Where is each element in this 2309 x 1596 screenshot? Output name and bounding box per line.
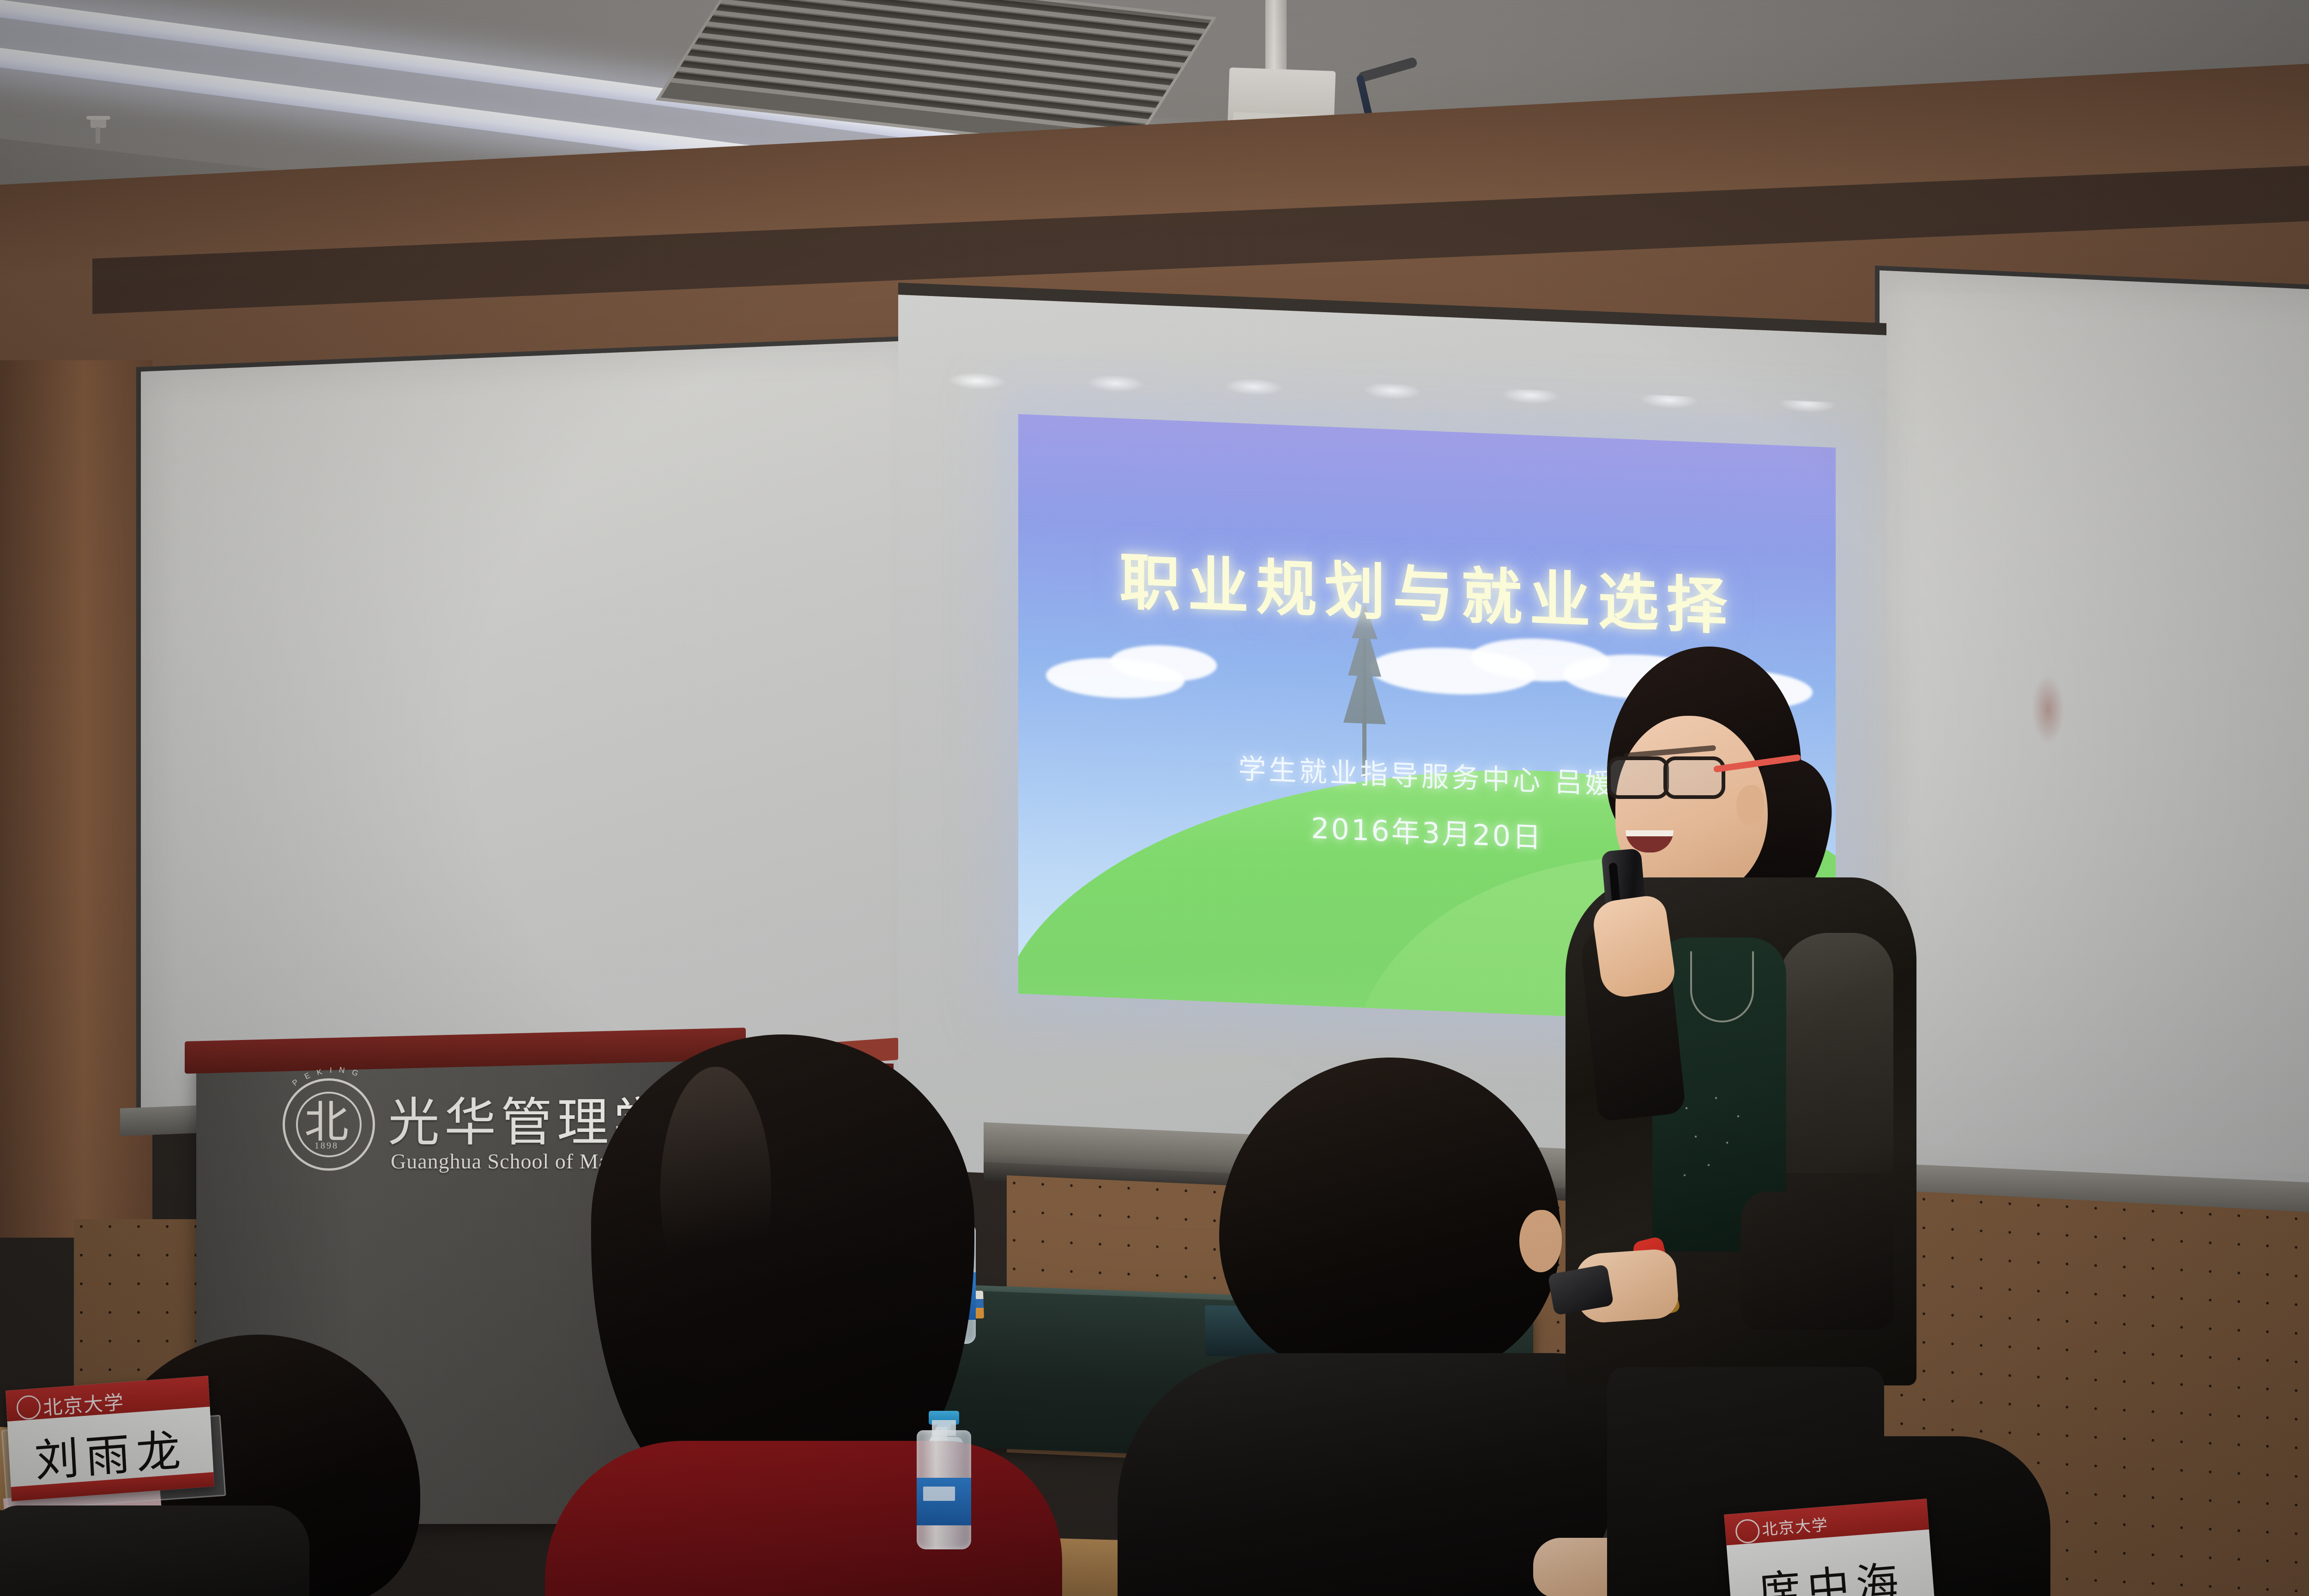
presenter-ear: [1736, 785, 1764, 827]
student-hair-highlight: [660, 1067, 771, 1316]
audience-student-red-sweater: [508, 1034, 1118, 1596]
water-bottle: [917, 1411, 971, 1549]
whiteboard-smudge: [2032, 674, 2064, 745]
placard-university-name: 北京大学: [42, 1386, 125, 1421]
bottle-label: [917, 1478, 971, 1525]
student-red-sweater-body: [545, 1441, 1062, 1596]
sprinkler-head-icon: [91, 118, 106, 128]
presenter-hand-holding-microphone: [1590, 894, 1677, 1000]
seal-ring-text: P E K I N G: [279, 1075, 374, 1170]
left-wood-wall: [0, 360, 152, 1238]
jacket-highlight: [1778, 933, 1893, 1173]
name-placard: 北京大学 席中海: [1724, 1499, 1935, 1596]
chair-back-foreground: [0, 1505, 309, 1596]
placard-person-name: 席中海: [1728, 1545, 1935, 1596]
seal-year: 1898: [296, 1141, 357, 1151]
necklace-icon: [1690, 951, 1754, 1022]
bottle-body: [917, 1430, 971, 1549]
presenter-lower-arm: [1741, 1191, 1893, 1330]
whiteboard-left: [136, 335, 931, 1134]
slide-title: 职业规划与就业选择: [1018, 529, 1836, 651]
student-hair: [1219, 1058, 1561, 1376]
lecture-hall-photo: EPSON 职业规划与就业选择 学: [0, 0, 2309, 1596]
eyeglasses-right-lens-icon: [1663, 756, 1725, 799]
eyeglasses-left-lens-icon: [1607, 756, 1669, 799]
name-placard: 北京大学 刘雨龙: [6, 1376, 214, 1501]
